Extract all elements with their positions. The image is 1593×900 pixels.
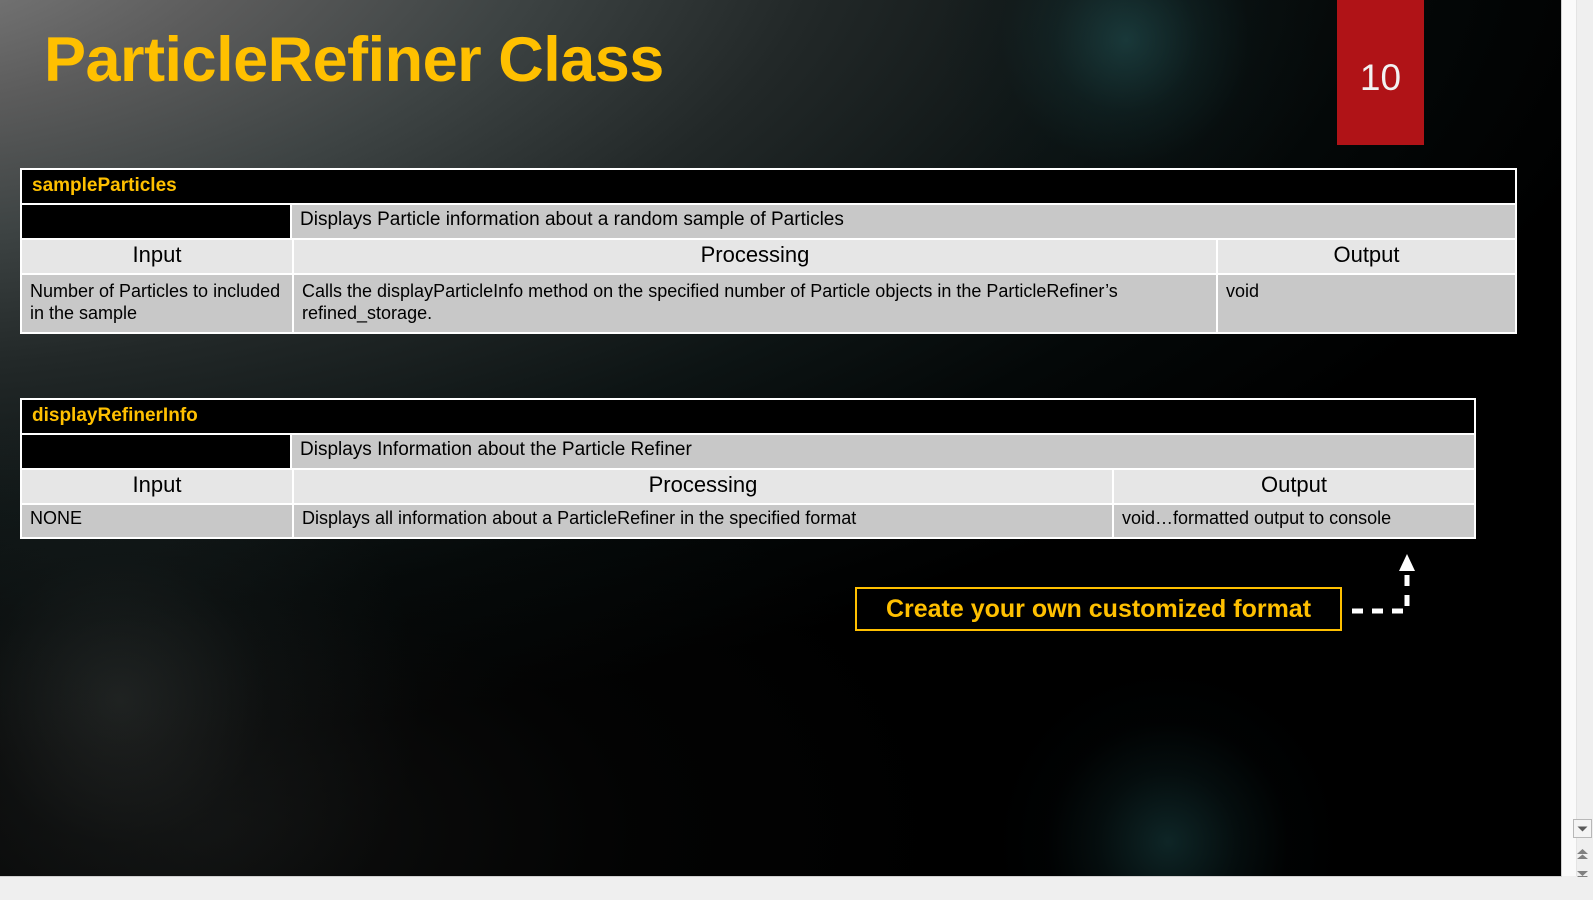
method-spec-table-display-refiner-info: displayRefinerInfo Purpose Displays Info… [20,398,1476,539]
column-header-output: Output [1216,240,1515,273]
cell-output: void [1216,275,1515,332]
previous-slide-button[interactable] [1573,845,1592,864]
dashed-elbow-arrow-icon [1340,540,1430,630]
column-header-processing: Processing [292,240,1216,273]
cell-output: void…formatted output to console [1112,505,1474,537]
callout-box: Create your own customized format [855,587,1342,631]
table-row: sampleParticles [22,170,1515,205]
method-name-label: sampleParticles [22,170,1515,203]
table-row: Input Processing Output [22,470,1474,505]
cell-processing: Displays all information about a Particl… [292,505,1112,537]
purpose-value: Displays Information about the Particle … [292,435,1474,468]
purpose-label: Purpose [22,435,292,468]
cell-processing: Calls the displayParticleInfo method on … [292,275,1216,332]
column-header-processing: Processing [292,470,1112,503]
column-header-input: Input [22,470,292,503]
method-name-label: displayRefinerInfo [22,400,1474,433]
table-row: displayRefinerInfo [22,400,1474,435]
cell-input: Number of Particles to included in the s… [22,275,292,332]
chevron-down-icon [1577,825,1588,833]
page-title: ParticleRefiner Class [44,26,664,95]
scroll-down-button[interactable] [1573,819,1592,838]
cell-input: NONE [22,505,292,537]
table-row: NONE Displays all information about a Pa… [22,505,1474,537]
table-row: Input Processing Output [22,240,1515,275]
purpose-label: Purpose [22,205,292,238]
purpose-value: Displays Particle information about a ra… [292,205,1515,238]
method-spec-table-sample-particles: sampleParticles Purpose Displays Particl… [20,168,1517,334]
presentation-viewer: ParticleRefiner Class 10 sampleParticles… [0,0,1593,900]
double-chevron-up-icon [1576,848,1589,861]
table-row: Number of Particles to included in the s… [22,275,1515,332]
page-number-text: 10 [1360,59,1401,96]
callout-text: Create your own customized format [886,597,1311,622]
table-row: Purpose Displays Information about the P… [22,435,1474,470]
column-header-input: Input [22,240,292,273]
window-bottom-strip [0,877,1593,900]
column-header-output: Output [1112,470,1474,503]
page-number-badge: 10 [1337,0,1424,145]
slide-canvas[interactable]: ParticleRefiner Class 10 sampleParticles… [0,0,1562,877]
vertical-scrollbar-track[interactable] [1562,0,1577,876]
table-row: Purpose Displays Particle information ab… [22,205,1515,240]
